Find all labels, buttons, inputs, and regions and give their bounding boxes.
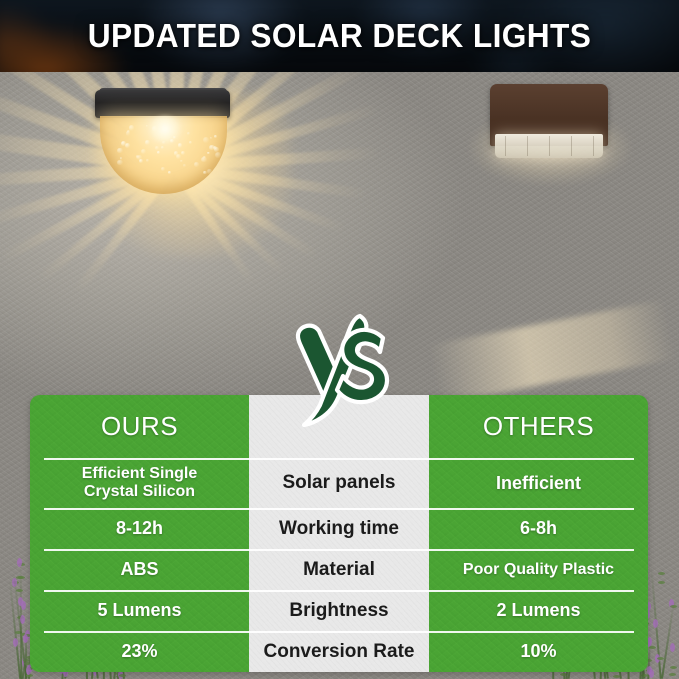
infographic-root: UPDATED SOLAR DECK LIGHTS xyxy=(0,0,679,679)
lens-rib xyxy=(549,136,550,156)
cell-ours-solar-panels: Efficient Single Crystal Silicon xyxy=(30,458,249,508)
lens-bubble xyxy=(181,151,185,155)
lens-bubble xyxy=(139,159,143,163)
table-row: ABS Material Poor Quality Plastic xyxy=(30,549,648,590)
lens-bubble xyxy=(157,151,160,154)
cell-feature-conversion-rate: Conversion Rate xyxy=(249,631,429,672)
cell-feature-working-time: Working time xyxy=(249,508,429,549)
lens-bubble xyxy=(207,169,211,173)
lens-bubble xyxy=(183,164,186,167)
table-row: Efficient Single Crystal Silicon Solar p… xyxy=(30,458,648,508)
lens-bubble xyxy=(117,148,123,154)
table-grid: OURS OTHERS Efficient Single Crystal Sil… xyxy=(30,395,648,672)
cell-ours-material: ABS xyxy=(30,549,249,590)
lens-bubble xyxy=(145,140,149,144)
left-lamp-hotspot xyxy=(148,116,182,142)
cell-ours-working-time: 8-12h xyxy=(30,508,249,549)
cell-others-conversion-rate: 10% xyxy=(429,631,648,672)
header-ours: OURS xyxy=(30,395,249,458)
lens-bubble xyxy=(136,155,140,159)
lens-bubble xyxy=(215,152,221,158)
lens-rib xyxy=(505,136,506,156)
header-banner: UPDATED SOLAR DECK LIGHTS xyxy=(0,0,679,72)
cell-others-material: Poor Quality Plastic xyxy=(429,549,648,590)
table-row: 5 Lumens Brightness 2 Lumens xyxy=(30,590,648,631)
lens-bubble xyxy=(203,137,209,143)
table-row: 23% Conversion Rate 10% xyxy=(30,631,648,672)
lens-bubble xyxy=(176,154,181,159)
lens-bubble xyxy=(207,152,209,154)
header-others: OTHERS xyxy=(429,395,648,458)
cell-ours-conversion-rate: 23% xyxy=(30,631,249,672)
table-row: 8-12h Working time 6-8h xyxy=(30,508,648,549)
lens-bubble xyxy=(125,143,130,148)
row-divider xyxy=(44,549,634,551)
row-divider xyxy=(44,458,634,460)
cell-ours-brightness: 5 Lumens xyxy=(30,590,249,631)
lens-bubble xyxy=(155,146,159,150)
lens-bubble xyxy=(180,160,182,162)
page-title: UPDATED SOLAR DECK LIGHTS xyxy=(14,0,666,72)
left-lamp-housing xyxy=(95,90,230,118)
lens-bubble xyxy=(189,141,192,144)
lens-rib xyxy=(571,136,572,156)
cell-feature-brightness: Brightness xyxy=(249,590,429,631)
lens-bubble xyxy=(203,171,206,174)
lens-bubble xyxy=(146,159,149,162)
cell-ours-solar-panels-line1: Efficient Single xyxy=(82,465,198,482)
cell-others-solar-panels: Inefficient xyxy=(429,458,648,508)
lens-bubble xyxy=(141,149,146,154)
lens-rib xyxy=(527,136,528,156)
cell-others-working-time: 6-8h xyxy=(429,508,648,549)
lens-rib xyxy=(593,136,594,156)
lens-bubble xyxy=(214,135,217,138)
lens-bubble xyxy=(129,125,134,130)
cell-ours-solar-panels-line2: Crystal Silicon xyxy=(84,483,195,500)
lens-bubble xyxy=(203,156,206,159)
row-divider xyxy=(44,631,634,633)
lens-bubble xyxy=(187,132,190,135)
cell-feature-solar-panels: Solar panels xyxy=(249,458,429,508)
row-divider xyxy=(44,508,634,510)
lens-bubble xyxy=(168,171,171,174)
row-divider xyxy=(44,590,634,592)
right-lamp-lens xyxy=(495,134,603,158)
lens-bubble xyxy=(194,162,199,167)
lens-bubble xyxy=(210,137,212,139)
cell-others-brightness: 2 Lumens xyxy=(429,590,648,631)
lens-bubble xyxy=(161,167,165,171)
vs-badge xyxy=(288,306,398,432)
lens-bubble xyxy=(117,160,123,166)
lens-bubble xyxy=(161,146,164,149)
comparison-table: OURS OTHERS Efficient Single Crystal Sil… xyxy=(30,395,648,672)
lens-bubble xyxy=(178,143,183,148)
cell-feature-material: Material xyxy=(249,549,429,590)
